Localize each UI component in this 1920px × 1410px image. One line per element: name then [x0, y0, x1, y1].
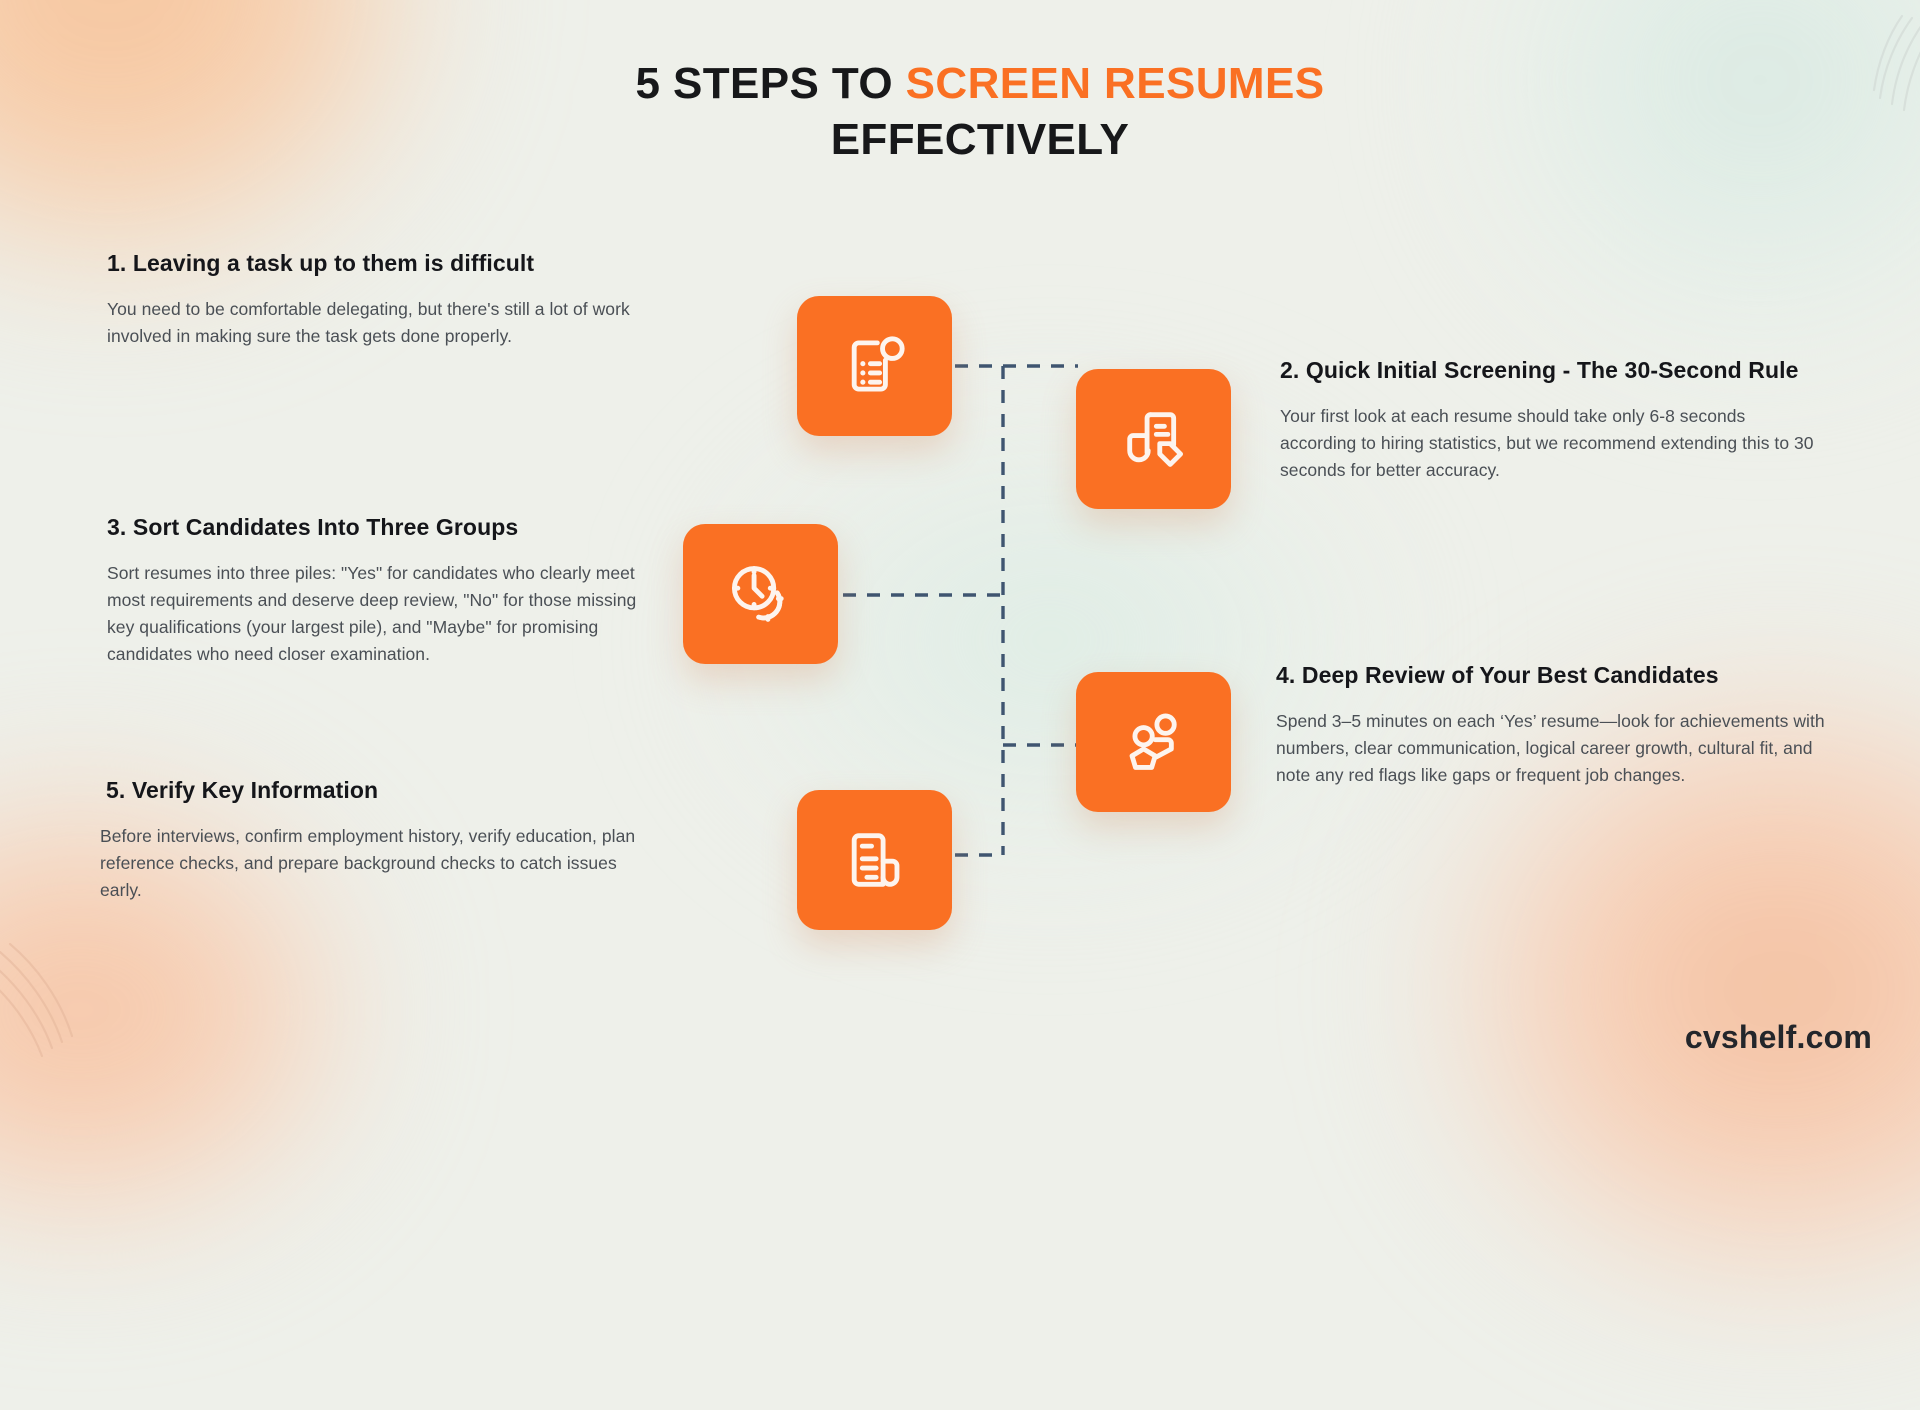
step-block-2: 2. Quick Initial Screening - The 30-Seco… [1280, 355, 1825, 484]
document-scroll-icon [838, 823, 912, 897]
step-5-title: 5. Verify Key Information [100, 775, 645, 807]
document-tag-icon-tile[interactable] [1076, 369, 1231, 509]
step-2-body: Your first look at each resume should ta… [1280, 403, 1825, 484]
step-3-body: Sort resumes into three piles: "Yes" for… [107, 560, 652, 669]
step-block-3: 3. Sort Candidates Into Three Groups Sor… [107, 512, 652, 668]
step-block-1: 1. Leaving a task up to them is difficul… [107, 248, 652, 350]
step-4-body: Spend 3–5 minutes on each ‘Yes’ resume—l… [1276, 708, 1836, 789]
checklist-document-icon-tile[interactable] [797, 296, 952, 436]
step-3-title: 3. Sort Candidates Into Three Groups [107, 512, 652, 544]
page-title-plain: 5 STEPS TO [636, 59, 906, 108]
step-1-body: You need to be comfortable delegating, b… [107, 296, 652, 350]
clock-stack-icon-tile[interactable] [683, 524, 838, 664]
document-tag-icon [1117, 402, 1191, 476]
two-people-icon-tile[interactable] [1076, 672, 1231, 812]
step-5-body: Before interviews, confirm employment hi… [100, 823, 645, 904]
step-block-4: 4. Deep Review of Your Best Candidates S… [1276, 660, 1836, 789]
two-people-icon [1117, 705, 1191, 779]
page-header: 5 STEPS TO SCREEN RESUMES EFFECTIVELY [0, 56, 1920, 169]
page-title-line-2: EFFECTIVELY [40, 112, 1920, 168]
checklist-document-icon [838, 329, 912, 403]
step-1-title: 1. Leaving a task up to them is difficul… [107, 248, 652, 280]
step-4-title: 4. Deep Review of Your Best Candidates [1276, 660, 1836, 692]
footer-logo[interactable]: cvshelf.com [1685, 1019, 1872, 1056]
document-scroll-icon-tile[interactable] [797, 790, 952, 930]
step-2-title: 2. Quick Initial Screening - The 30-Seco… [1280, 355, 1825, 387]
page-title-line-1: 5 STEPS TO SCREEN RESUMES [40, 56, 1920, 112]
step-block-5: 5. Verify Key Information Before intervi… [100, 775, 645, 904]
clock-stack-icon [724, 557, 798, 631]
page-title-accent: SCREEN RESUMES [906, 59, 1325, 108]
